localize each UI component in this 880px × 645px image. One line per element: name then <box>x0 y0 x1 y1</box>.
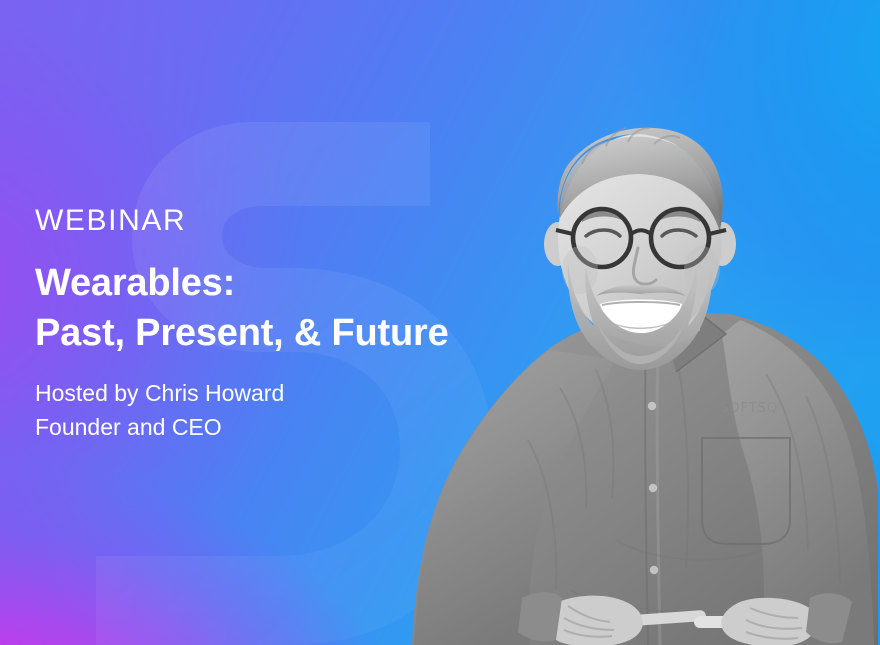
host-title-line: Founder and CEO <box>35 410 555 444</box>
webinar-promo-banner: SOFTSQ <box>0 0 880 645</box>
page-title: Wearables: Past, Present, & Future <box>35 258 555 358</box>
host-name-line: Hosted by Chris Howard <box>35 376 555 410</box>
eyebrow-label: WEBINAR <box>35 206 555 236</box>
host-credit: Hosted by Chris Howard Founder and CEO <box>35 376 555 444</box>
headline-line-2: Past, Present, & Future <box>35 308 555 358</box>
banner-copy: WEBINAR Wearables: Past, Present, & Futu… <box>35 206 555 444</box>
shirt-logo: SOFTSQ <box>720 401 778 416</box>
headline-line-1: Wearables: <box>35 258 555 308</box>
